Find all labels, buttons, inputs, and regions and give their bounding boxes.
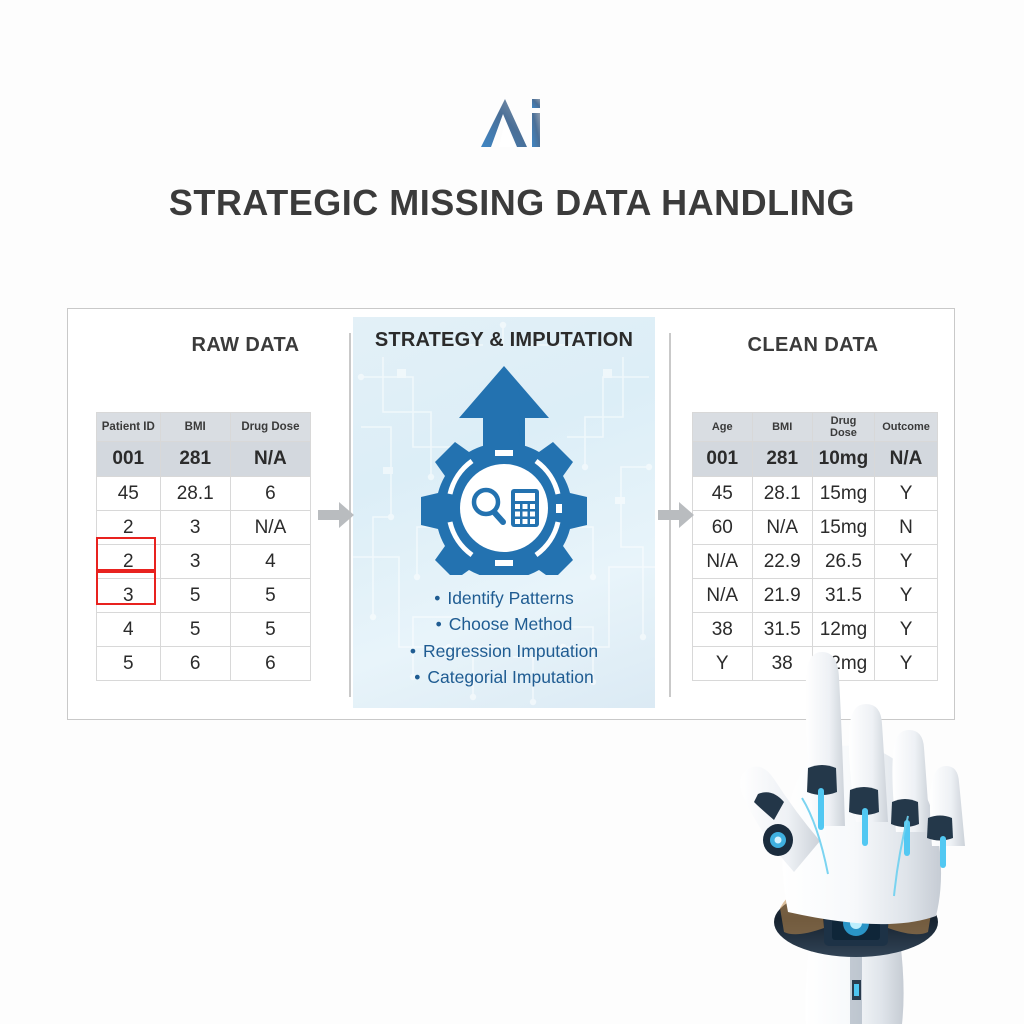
clean-data-table: Age BMI Drug Dose Outcome 001 281 10mg N… (692, 412, 938, 681)
cell-imputed: 12mg (812, 613, 874, 647)
col-header-drug-dose: Drug Dose (812, 413, 874, 442)
clean-data-heading: CLEAN DATA (673, 334, 953, 357)
col-header-outcome: Outcome (875, 413, 938, 442)
cell: N/A (693, 579, 753, 613)
cell: 3 (160, 511, 230, 545)
col-header-age: Age (693, 413, 753, 442)
cell: 4 (230, 545, 310, 579)
cell: 31.5 (752, 613, 812, 647)
col-header-drug-dose: Drug Dose (230, 413, 310, 442)
table-row: N/A 21.9 31.5 Y (693, 579, 938, 613)
table-row: 38 31.5 12mg Y (693, 613, 938, 647)
table-row: N/A 22.9 26.5 Y (693, 545, 938, 579)
cell: 45 (97, 477, 161, 511)
cell-highlighted: 2 (97, 545, 161, 579)
cell: 281 (160, 442, 230, 477)
calculator-icon (511, 489, 539, 527)
flow-arrow-right (658, 502, 694, 528)
cell: 45 (693, 477, 753, 511)
infographic-canvas: STRATEGIC MISSING DATA HANDLING RAW DATA… (0, 0, 1024, 1024)
cell: 28.1 (752, 477, 812, 511)
cell: 001 (97, 442, 161, 477)
table-header-row: Patient ID BMI Drug Dose (97, 413, 311, 442)
cell-imputed: Y (875, 613, 938, 647)
page-title: STRATEGIC MISSING DATA HANDLING (0, 182, 1024, 224)
cell: 5 (160, 579, 230, 613)
cell: 2 (97, 511, 161, 545)
cell: N/A (230, 442, 310, 477)
cell: 60 (693, 511, 753, 545)
table-row: 4 5 5 (97, 613, 311, 647)
bullet-item-1: Choose Method (353, 611, 655, 637)
bullet-item-0: Identify Patterns (353, 585, 655, 611)
cell-imputed: 26.5 (812, 545, 874, 579)
cell: N/A (693, 545, 753, 579)
cell: 28.1 (160, 477, 230, 511)
cell: 4 (97, 613, 161, 647)
bullet-item-3: Categorial Imputation (353, 664, 655, 690)
cell-imputed: 15mg (812, 477, 874, 511)
col-header-patient-id: Patient ID (97, 413, 161, 442)
cell-imputed: Y (875, 579, 938, 613)
cell: 38 (693, 613, 753, 647)
raw-data-table: Patient ID BMI Drug Dose 001 281 N/A 45 … (96, 412, 311, 681)
ai-logo (0, 92, 1024, 154)
cell: 5 (160, 613, 230, 647)
table-header-row: Age BMI Drug Dose Outcome (693, 413, 938, 442)
table-row: 3 5 5 (97, 579, 311, 613)
gear-icon (389, 360, 619, 575)
cell-imputed: N (875, 511, 938, 545)
table-row: 2 3 4 (97, 545, 311, 579)
cell: 5 (97, 647, 161, 681)
cell: 22.9 (752, 545, 812, 579)
col-header-bmi: BMI (752, 413, 812, 442)
table-row-emphasis: 001 281 N/A (97, 442, 311, 477)
gear-shape (421, 428, 587, 575)
cell-imputed: Y (875, 477, 938, 511)
cell: 3 (160, 545, 230, 579)
table-row: 5 6 6 (97, 647, 311, 681)
ai-logo-icon (479, 97, 545, 149)
cell: 281 (752, 442, 812, 477)
cell: 6 (160, 647, 230, 681)
strategy-heading: STRATEGY & IMPUTATION (353, 329, 655, 352)
cell: 5 (230, 579, 310, 613)
cell-imputed: 31.5 (812, 579, 874, 613)
cell-imputed: N/A (752, 511, 812, 545)
col-header-bmi: BMI (160, 413, 230, 442)
flow-arrow-left (318, 502, 354, 528)
table-row: 45 28.1 6 (97, 477, 311, 511)
cell: 001 (693, 442, 753, 477)
table-row: 2 3 N/A (97, 511, 311, 545)
bullet-item-2: Regression Imputation (353, 638, 655, 664)
strategy-bullet-list: Identify Patterns Choose Method Regressi… (353, 585, 655, 690)
cell: 5 (230, 613, 310, 647)
cell: 10mg (812, 442, 874, 477)
strategy-panel: STRATEGY & IMPUTATION (353, 317, 655, 708)
cell: 6 (230, 647, 310, 681)
raw-data-heading: RAW DATA (143, 334, 348, 357)
table-row: 60 N/A 15mg N (693, 511, 938, 545)
cell: 6 (230, 477, 310, 511)
cell: N/A (230, 511, 310, 545)
cell: N/A (875, 442, 938, 477)
robot-hand-pointing (700, 650, 1024, 1024)
table-row: 45 28.1 15mg Y (693, 477, 938, 511)
strategy-icon-group (353, 357, 655, 577)
cell-imputed: 15mg (812, 511, 874, 545)
cell: 21.9 (752, 579, 812, 613)
cell-highlighted: 3 (97, 579, 161, 613)
table-row-emphasis: 001 281 10mg N/A (693, 442, 938, 477)
cell-imputed: Y (875, 545, 938, 579)
